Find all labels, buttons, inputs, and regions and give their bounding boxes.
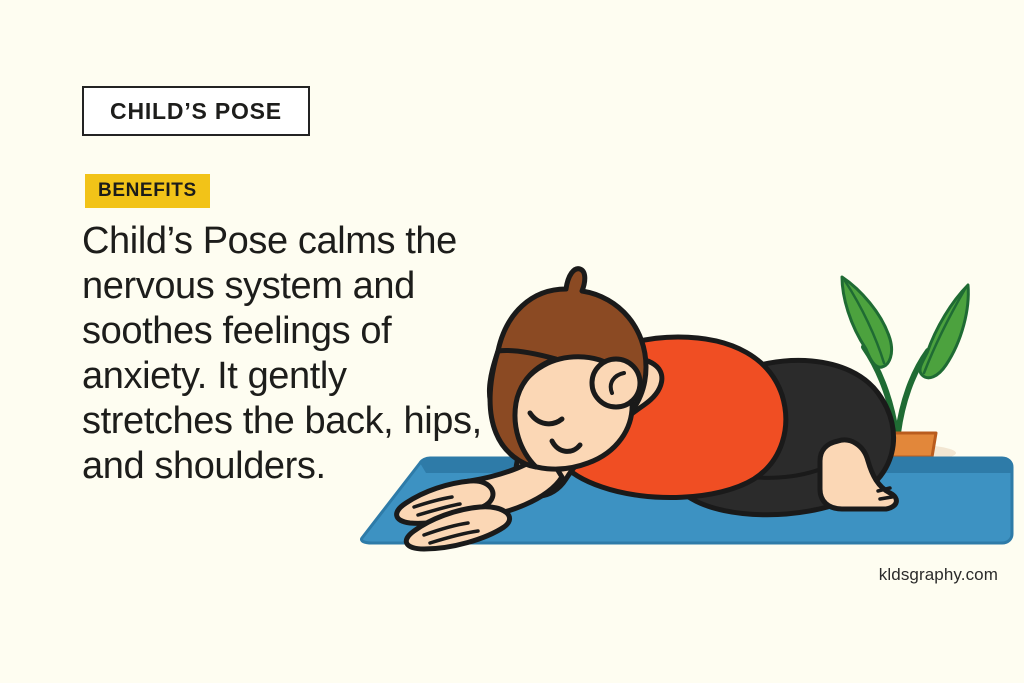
page-title: CHILD’S POSE: [110, 98, 282, 125]
page-title-box: CHILD’S POSE: [82, 86, 310, 136]
benefits-badge: BENEFITS: [85, 174, 210, 208]
child-ear-icon: [592, 359, 640, 407]
child-toe-line-2: [880, 497, 892, 499]
childs-pose-illustration: [330, 255, 1024, 585]
poster-canvas: CHILD’S POSE BENEFITS Child’s Pose calms…: [0, 0, 1024, 683]
benefits-badge-label: BENEFITS: [98, 180, 197, 202]
